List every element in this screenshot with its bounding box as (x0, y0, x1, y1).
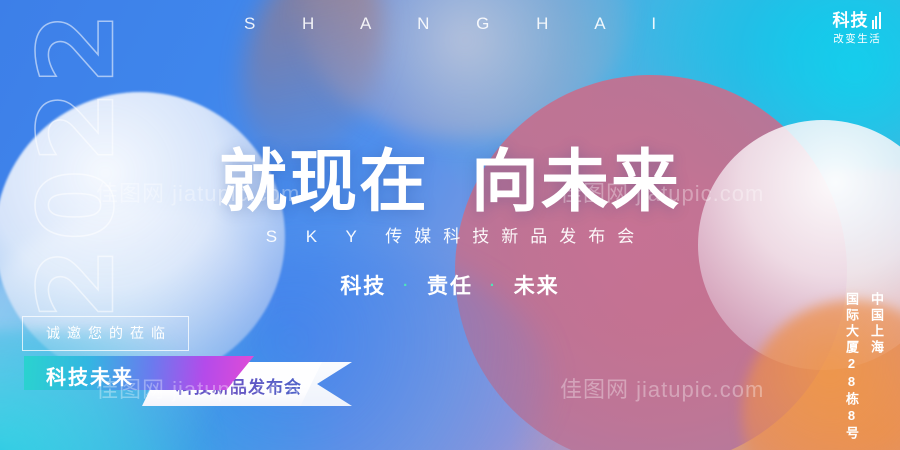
event-poster: 2022 S H A N G H A I 科技 改变生活 就现在 向未来 S K… (0, 0, 900, 450)
venue-address-line-1: 中国上海 (867, 292, 886, 442)
invitation-badge: 诚邀您的莅临 (22, 316, 189, 351)
keyword-item-1: 责任 (427, 275, 473, 298)
city-name-english: S H A N G H A I (0, 14, 900, 34)
watermark-cn: 佳图网 (560, 377, 629, 402)
signal-bars-icon (872, 12, 883, 29)
keyword-item-2: 未来 (514, 275, 560, 298)
watermark-en: jiatupic.com (636, 377, 764, 402)
keyword-separator-icon: · (490, 277, 497, 294)
venue-address: 中国上海 国际大厦28栋8号 (842, 292, 886, 442)
watermark: 佳图网 jiatupic.com (560, 372, 764, 404)
event-subtitle: S K Y 传媒科技新品发布会 (0, 222, 900, 247)
keyword-item-0: 科技 (340, 275, 386, 298)
brand-logo: 科技 改变生活 (833, 12, 883, 45)
keyword-separator-icon: · (403, 277, 410, 294)
venue-address-line-2: 国际大厦28栋8号 (842, 292, 861, 442)
brand-logo-primary: 科技 (833, 12, 869, 29)
ribbon-gradient-label: 科技未来 (46, 361, 134, 390)
keyword-list: 科技 · 责任 · 未来 (0, 270, 900, 300)
ribbon-gradient: 科技未来 (24, 356, 254, 390)
brand-logo-tagline: 改变生活 (833, 34, 883, 45)
page-title: 就现在 向未来 (0, 126, 900, 225)
